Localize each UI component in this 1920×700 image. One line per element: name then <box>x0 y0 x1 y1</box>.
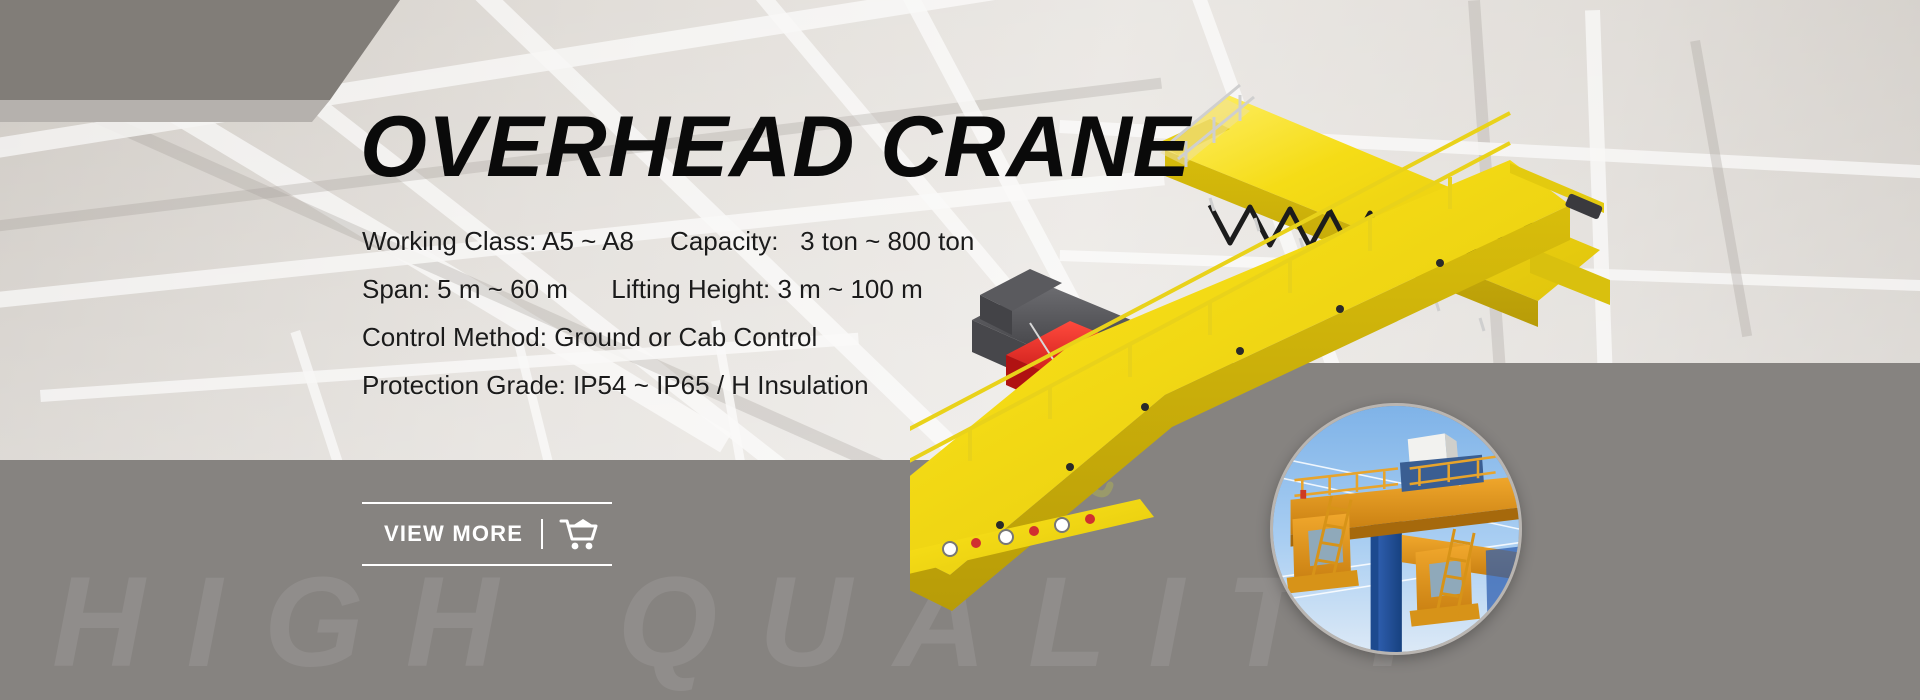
cta-divider <box>541 519 543 549</box>
watermark-text: HIGH QUALITY <box>52 556 1473 690</box>
view-more-label: VIEW MORE <box>384 521 523 547</box>
inset-crane-photo <box>1270 403 1522 655</box>
overhead-crane-banner: HIGH QUALITY <box>0 0 1920 700</box>
specs-list: Working Class: A5 ~ A8 Capacity: 3 ton ~… <box>362 228 1062 420</box>
page-title: OVERHEAD CRANE <box>360 104 1191 190</box>
spec-line-working-class-capacity: Working Class: A5 ~ A8 Capacity: 3 ton ~… <box>362 228 1062 254</box>
spec-line-span-lifting-height: Span: 5 m ~ 60 m Lifting Height: 3 m ~ 1… <box>362 276 1062 302</box>
view-more-button[interactable]: VIEW MORE <box>362 502 612 566</box>
shopping-cart-icon[interactable] <box>559 517 599 551</box>
spec-line-protection-grade: Protection Grade: IP54 ~ IP65 / H Insula… <box>362 372 1062 398</box>
spec-line-control-method: Control Method: Ground or Cab Control <box>362 324 1062 350</box>
